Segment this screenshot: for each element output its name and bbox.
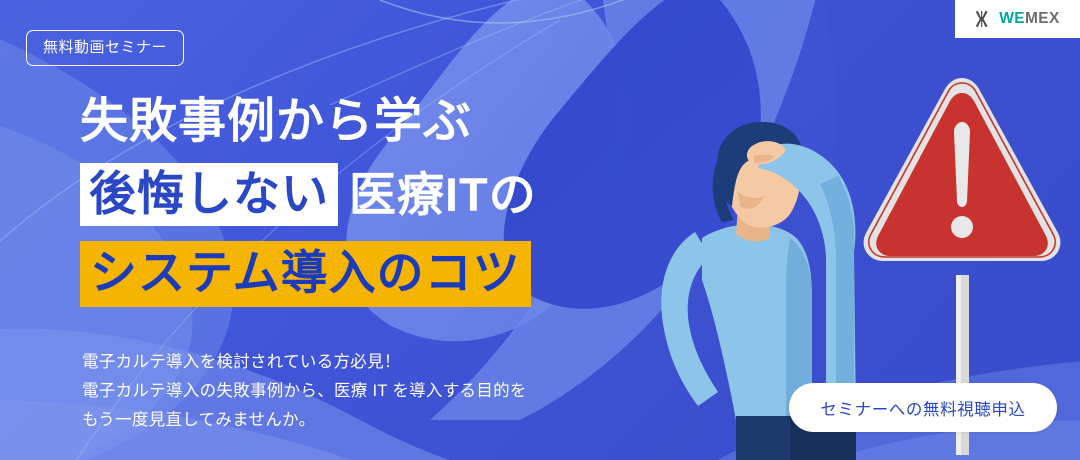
seminar-hero-banner: WEMEX 無料動画セミナー 失敗事例から学ぶ 後悔しない 医療ITの システム… — [0, 0, 1080, 460]
headline-line-2-rest: 医療ITの — [349, 171, 537, 218]
subcopy-line-3: もう一度見直してみませんか。 — [82, 406, 527, 435]
logo-text-mex: MEX — [1025, 10, 1060, 27]
headline-highlight-yellow: システム導入のコツ — [80, 241, 531, 307]
free-video-seminar-badge: 無料動画セミナー — [26, 30, 184, 66]
wemex-logo[interactable]: WEMEX — [955, 0, 1080, 38]
headline-line-2: 後悔しない 医療ITの — [80, 163, 700, 226]
subcopy-line-1: 電子カルテ導入を検討されている方必見！ — [82, 348, 527, 377]
headline-block: 失敗事例から学ぶ 後悔しない 医療ITの システム導入のコツ — [80, 98, 700, 307]
wemex-x-mark — [975, 9, 995, 29]
headline-highlight-white: 後悔しない — [80, 163, 338, 226]
subcopy-block: 電子カルテ導入を検討されている方必見！ 電子カルテ導入の失敗事例から、医療 IT… — [82, 348, 527, 435]
seminar-apply-button[interactable]: セミナーへの無料視聴申込 — [789, 383, 1057, 432]
subcopy-line-2: 電子カルテ導入の失敗事例から、医療 IT を導入する目的を — [82, 377, 527, 406]
headline-line-1: 失敗事例から学ぶ — [80, 98, 700, 146]
logo-text-we: WE — [999, 10, 1025, 27]
